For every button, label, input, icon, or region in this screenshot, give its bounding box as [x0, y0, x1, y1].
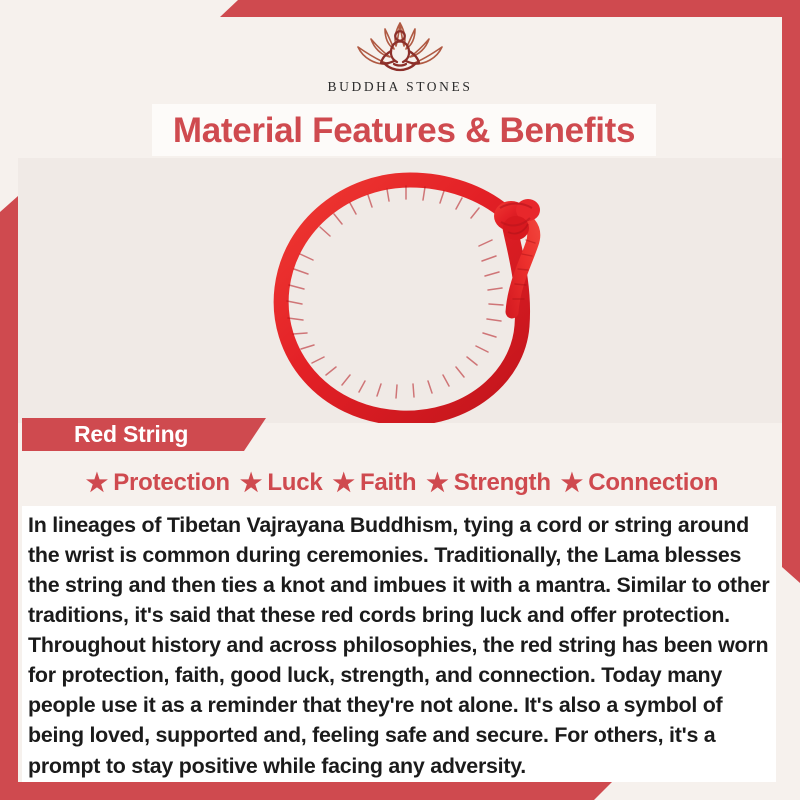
star-icon: ★	[86, 471, 108, 496]
benefit-label: Strength	[454, 471, 551, 495]
star-icon: ★	[426, 471, 448, 496]
benefit-label: Luck	[267, 471, 322, 495]
red-braided-string-bracelet-image	[260, 166, 580, 423]
star-icon: ★	[561, 471, 583, 496]
benefits-row: ★ Protection ★ Luck ★ Faith ★ Strength ★…	[28, 466, 776, 500]
description-text: In lineages of Tibetan Vajrayana Buddhis…	[28, 510, 770, 781]
benefit-item: ★ Faith	[323, 471, 417, 496]
star-icon: ★	[240, 471, 262, 496]
material-label-banner: Red String	[22, 418, 266, 451]
benefit-item: ★ Protection	[86, 471, 230, 496]
description-panel: In lineages of Tibetan Vajrayana Buddhis…	[22, 506, 776, 782]
product-photo-area	[18, 158, 782, 423]
brand-logo: BUDDHA STONES	[0, 18, 800, 100]
benefit-item: ★ Strength	[416, 471, 550, 496]
page-title: Material Features & Benefits	[173, 113, 635, 148]
benefit-item: ★ Connection	[551, 471, 718, 496]
infographic-page: BUDDHA STONES Material Features & Benefi…	[0, 0, 800, 800]
benefit-item: ★ Luck	[230, 471, 323, 496]
title-banner: Material Features & Benefits	[152, 104, 656, 156]
brand-wordmark: BUDDHA STONES	[328, 79, 473, 95]
star-icon: ★	[333, 471, 355, 496]
lotus-meditation-figure-icon	[339, 18, 461, 78]
decorative-bottom-bar	[0, 782, 612, 800]
decorative-top-bar	[220, 0, 800, 17]
material-label: Red String	[22, 423, 188, 446]
benefit-label: Faith	[360, 471, 416, 495]
benefit-label: Connection	[588, 471, 718, 495]
benefit-label: Protection	[113, 471, 230, 495]
decorative-left-strip	[0, 196, 18, 800]
